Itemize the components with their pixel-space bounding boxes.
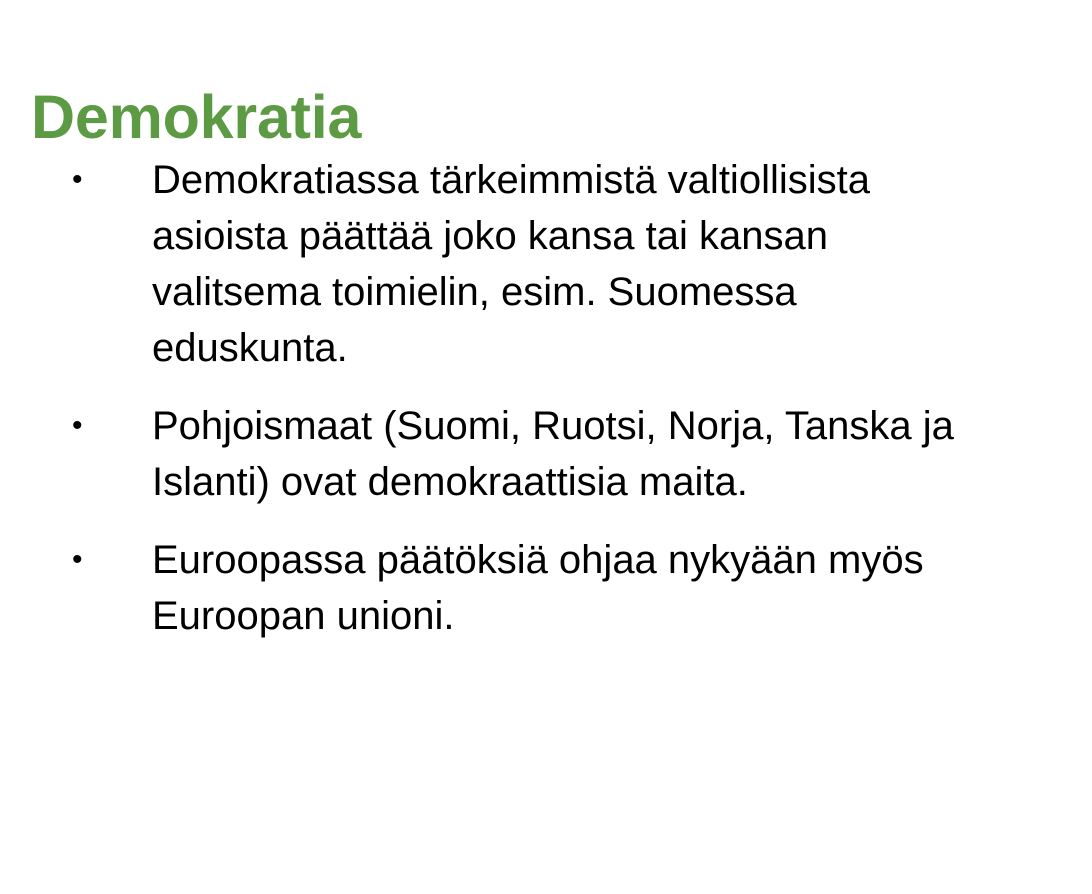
- list-item-text: Euroopassa päätöksiä ohjaa nykyään myös …: [152, 532, 1000, 644]
- list-item-text: Pohjoismaat (Suomi, Ruotsi, Norja, Tansk…: [152, 398, 1000, 510]
- bullet-point-icon: •: [72, 152, 92, 208]
- slide-canvas: Demokratia • Demokratiassa tärkeimmistä …: [0, 0, 1092, 894]
- bullet-point-icon: •: [72, 532, 92, 588]
- bullet-point-icon: •: [72, 398, 92, 454]
- list-item: • Demokratiassa tärkeimmistä valtiollisi…: [0, 152, 1000, 376]
- list-item: • Euroopassa päätöksiä ohjaa nykyään myö…: [0, 532, 1000, 644]
- bullet-list: • Demokratiassa tärkeimmistä valtiollisi…: [0, 152, 1000, 644]
- list-item-text: Demokratiassa tärkeimmistä valtiollisist…: [152, 152, 1000, 376]
- page-title: Demokratia: [31, 85, 361, 151]
- list-item: • Pohjoismaat (Suomi, Ruotsi, Norja, Tan…: [0, 398, 1000, 510]
